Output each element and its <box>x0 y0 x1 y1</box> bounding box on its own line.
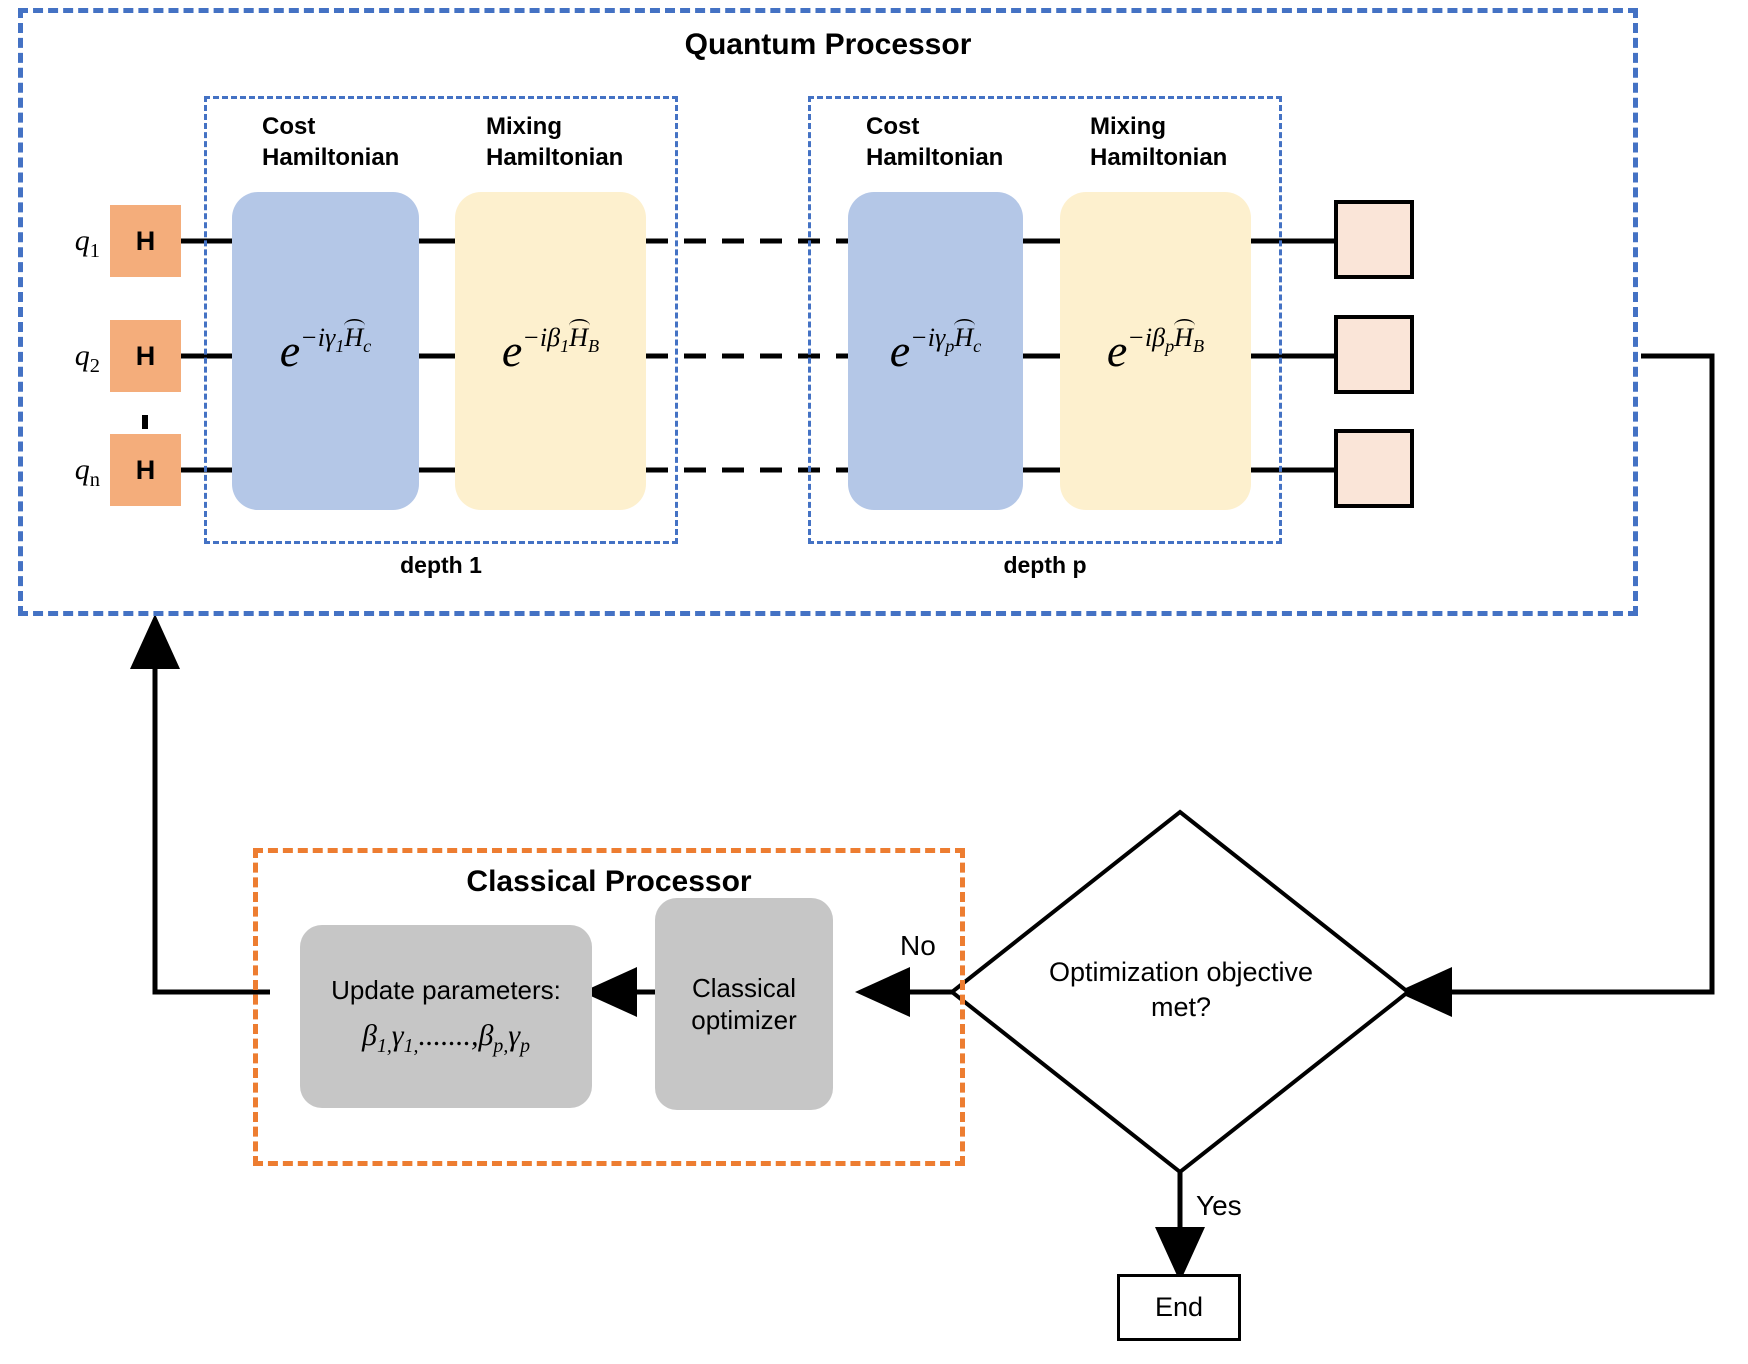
qubit-label-qn-sub: n <box>90 469 100 491</box>
edge-label-yes: Yes <box>1196 1190 1242 1222</box>
cost-1-exp-prefix: −iγ <box>300 323 335 352</box>
cost-p-exp-index: p <box>945 337 954 357</box>
mixing-hamiltonian-p-block[interactable]: e−iβpHB <box>1060 192 1251 510</box>
mixing-hamiltonian-1-block[interactable]: e−iβ1HB <box>455 192 646 510</box>
mixing-hamiltonian-1-header-line2: Hamiltonian <box>486 143 686 174</box>
mix-1-operator: H <box>569 323 588 352</box>
cost-hamiltonian-1-block[interactable]: e−iγ1Hc <box>232 192 419 510</box>
qubit-label-q2-sub: 2 <box>90 355 100 377</box>
cost-hamiltonian-p-block[interactable]: e−iγpHc <box>848 192 1023 510</box>
measurement-meter-qn[interactable] <box>1334 429 1414 508</box>
update-parameters-box[interactable]: Update parameters: β1,γ1,.......,βp,γp <box>300 925 592 1108</box>
cost-hamiltonian-1-formula: e−iγ1Hc <box>280 328 372 374</box>
mixing-hamiltonian-p-header-line1: Mixing <box>1090 112 1290 143</box>
param-gamma-1-sub: 1, <box>404 1035 419 1057</box>
mix-1-exp-index: 1 <box>560 337 569 357</box>
cost-hamiltonian-1-header-line2: Hamiltonian <box>262 143 452 174</box>
update-parameters-formula: β1,γ1,.......,βp,γp <box>362 1017 530 1059</box>
qubit-label-q2-text: q <box>75 339 90 372</box>
mixing-hamiltonian-p-formula: e−iβpHB <box>1107 328 1204 374</box>
param-beta-p-sub: p, <box>493 1035 508 1057</box>
qubit-label-q2: q2 <box>52 339 100 378</box>
edge-label-no: No <box>900 930 936 962</box>
cost-p-base: e <box>890 325 910 376</box>
mixing-hamiltonian-1-formula: e−iβ1HB <box>502 328 599 374</box>
cost-1-exp-index: 1 <box>335 337 344 357</box>
cost-1-base: e <box>280 325 300 376</box>
cost-p-operator: H <box>954 323 973 352</box>
classical-optimizer-line1: Classical <box>692 972 796 1005</box>
param-gamma-p-sub: p <box>520 1035 530 1057</box>
cost-hamiltonian-1-header: Cost Hamiltonian <box>262 112 452 173</box>
qubit-label-qn: qn <box>52 453 100 492</box>
param-beta-1-sub: 1, <box>377 1035 392 1057</box>
mix-p-base: e <box>1107 325 1127 376</box>
quantum-processor-title: Quantum Processor <box>18 28 1638 62</box>
end-node[interactable]: End <box>1117 1274 1241 1341</box>
hadamard-gate-q2[interactable]: H <box>110 320 181 392</box>
hadamard-gate-q1-label: H <box>136 226 156 257</box>
mixing-hamiltonian-1-header: Mixing Hamiltonian <box>486 112 686 173</box>
hadamard-gate-q2-label: H <box>136 341 156 372</box>
cost-p-exp-prefix: −iγ <box>910 323 945 352</box>
measurement-meter-q1[interactable] <box>1334 200 1414 279</box>
classical-optimizer-box[interactable]: Classical optimizer <box>655 898 833 1110</box>
param-dots: ......., <box>418 1019 478 1052</box>
qubit-label-q1-text: q <box>75 224 90 257</box>
cost-hamiltonian-p-formula: e−iγpHc <box>890 328 982 374</box>
decision-label-line2: met? <box>1012 990 1350 1025</box>
decision-label: Optimization objective met? <box>1012 955 1350 1025</box>
classical-optimizer-line2: optimizer <box>691 1004 796 1037</box>
cost-hamiltonian-p-header-line2: Hamiltonian <box>866 143 1056 174</box>
param-beta-1: β <box>362 1019 377 1052</box>
qubit-label-qn-text: q <box>75 453 90 486</box>
mix-p-exp-index: p <box>1165 337 1174 357</box>
cost-hamiltonian-1-header-line1: Cost <box>262 112 452 143</box>
decision-label-line1: Optimization objective <box>1012 955 1350 990</box>
cost-1-operator-sub: c <box>363 337 371 357</box>
qubit-label-q1: q1 <box>52 224 100 263</box>
param-beta-p: β <box>478 1019 493 1052</box>
mix-p-operator-sub: B <box>1193 337 1204 357</box>
depth-1-label: depth 1 <box>204 552 678 579</box>
mix-1-exp-prefix: −iβ <box>522 323 560 352</box>
param-gamma-1: γ <box>392 1019 404 1052</box>
mix-1-base: e <box>502 325 522 376</box>
cost-hamiltonian-p-header: Cost Hamiltonian <box>866 112 1056 173</box>
hadamard-gate-qn[interactable]: H <box>110 434 181 506</box>
qubit-label-q1-sub: 1 <box>90 240 100 262</box>
mix-1-operator-sub: B <box>588 337 599 357</box>
mixing-hamiltonian-p-header-line2: Hamiltonian <box>1090 143 1290 174</box>
hadamard-gate-q1[interactable]: H <box>110 205 181 277</box>
param-gamma-p: γ <box>508 1019 520 1052</box>
classical-processor-title: Classical Processor <box>253 865 965 899</box>
update-parameters-label: Update parameters: <box>331 974 561 1007</box>
depth-p-label: depth p <box>808 552 1282 579</box>
mixing-hamiltonian-1-header-line1: Mixing <box>486 112 686 143</box>
mix-p-operator: H <box>1174 323 1193 352</box>
mix-p-exp-prefix: −iβ <box>1127 323 1165 352</box>
cost-hamiltonian-p-header-line1: Cost <box>866 112 1056 143</box>
end-node-label: End <box>1155 1292 1203 1323</box>
mixing-hamiltonian-p-header: Mixing Hamiltonian <box>1090 112 1290 173</box>
hadamard-gate-qn-label: H <box>136 455 156 486</box>
cost-p-operator-sub: c <box>973 337 981 357</box>
diagram-canvas: Quantum Processor depth 1 depth p q1 H q… <box>0 0 1748 1364</box>
cost-1-operator: H <box>344 323 363 352</box>
measurement-meter-q2[interactable] <box>1334 315 1414 394</box>
